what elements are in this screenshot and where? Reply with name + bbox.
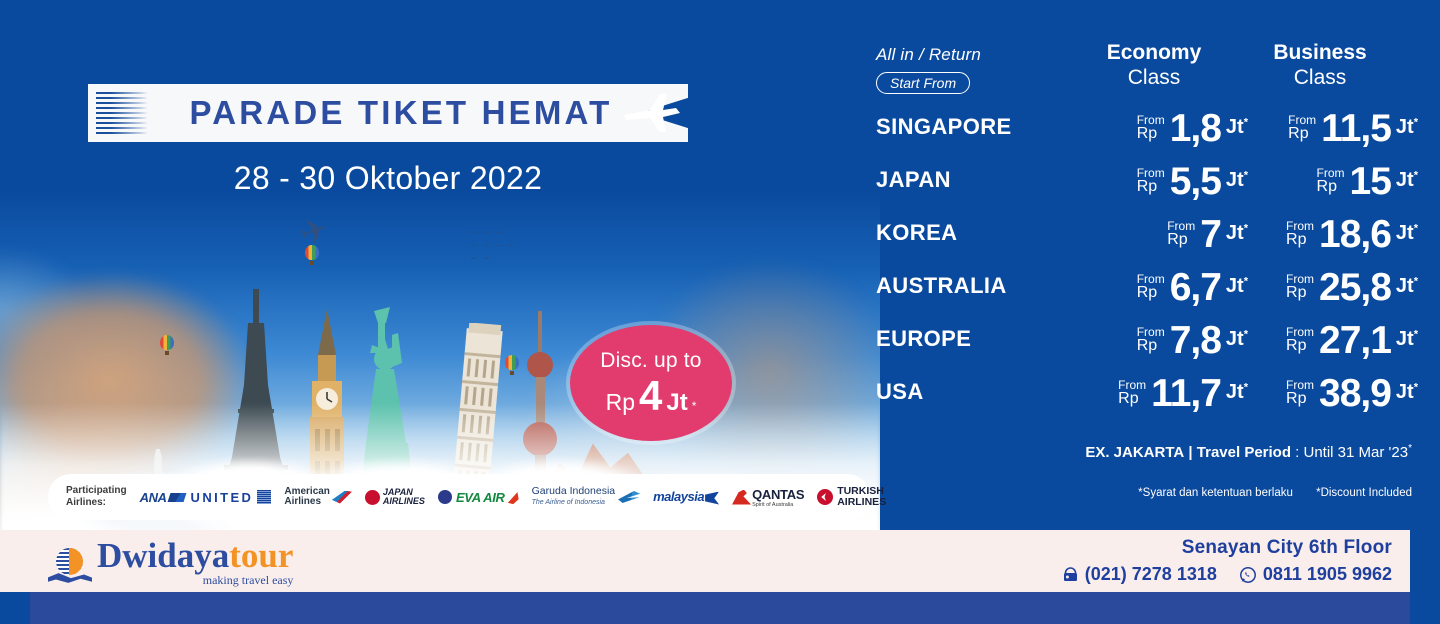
office-address: Senayan City 6th Floor	[1062, 537, 1392, 559]
fare-row-korea: KOREA FromRp 7 Jt* FromRp 18,6 Jt*	[872, 208, 1412, 261]
all-in-return-label: All in / Return	[876, 45, 981, 65]
business-price: FromRp 27,1 Jt*	[1228, 316, 1418, 366]
economy-price: FromRp 7 Jt*	[1058, 210, 1248, 260]
business-price: FromRp 25,8 Jt*	[1228, 263, 1418, 313]
participating-airlines-strip: ParticipatingAirlines: ANA UNITED Americ…	[48, 474, 870, 520]
logo-wordmark: Dwidayatour making travel easy	[97, 538, 293, 586]
discount-badge: Disc. up to Rp 4 Jt *	[570, 325, 732, 441]
airline-logo-qantas: QANTASSpirit of Australia	[732, 487, 804, 508]
logo-tagline: making travel easy	[97, 574, 293, 586]
discount-currency: Rp	[606, 389, 635, 416]
fare-row-japan: JAPAN FromRp 5,5 Jt* FromRp 15 Jt*	[872, 155, 1412, 208]
phone-number: (021) 7278 1318	[1085, 564, 1217, 585]
terms-text: *Syarat dan ketentuan berlaku	[1138, 487, 1293, 499]
promo-dates: 28 - 30 Oktober 2022	[88, 160, 688, 197]
economy-price: FromRp 7,8 Jt*	[1058, 316, 1248, 366]
contact-info: Senayan City 6th Floor (021) 7278 1318	[1062, 537, 1392, 585]
start-from-pill: Start From	[876, 72, 970, 94]
phone-contact[interactable]: (021) 7278 1318	[1062, 564, 1217, 585]
discount-asterisk: *	[692, 399, 697, 413]
dwidaya-logo[interactable]: Dwidayatour making travel easy	[48, 538, 293, 586]
airline-logo-malaysia-airlines: malaysia	[653, 489, 719, 504]
travel-period-note: EX. JAKARTA | Travel Period : Until 31 M…	[872, 443, 1412, 461]
destination-name: KOREA	[876, 220, 957, 246]
destination-name: JAPAN	[876, 167, 951, 193]
fare-row-singapore: SINGAPORE FromRp 1,8 Jt* FromRp 11,5 Jt*	[872, 102, 1412, 155]
airplane-icon	[620, 88, 682, 138]
title-ribbon: PARADE TIKET HEMAT	[88, 84, 688, 142]
destination-name: EUROPE	[876, 326, 971, 352]
fare-row-usa: USA FromRp 11,7 Jt* FromRp 38,9 Jt*	[872, 367, 1412, 420]
fare-row-europe: EUROPE FromRp 7,8 Jt* FromRp 27,1 Jt*	[872, 314, 1412, 367]
discount-included-text: *Discount Included	[1316, 487, 1412, 499]
destination-name: USA	[876, 379, 924, 405]
speed-lines-decoration	[96, 92, 148, 134]
hot-air-balloon-icon	[505, 355, 519, 375]
airline-logo-american-airlines: AmericanAirlines	[284, 487, 352, 507]
economy-price: FromRp 6,7 Jt*	[1058, 263, 1248, 313]
airline-logo-ana: ANA UNITED	[140, 490, 272, 505]
participating-airlines-label: ParticipatingAirlines:	[66, 485, 127, 509]
telephone-icon	[1062, 566, 1079, 583]
column-header-economy: Economy Class	[1064, 40, 1244, 90]
discount-amount: 4	[639, 376, 662, 416]
economy-price: FromRp 5,5 Jt*	[1058, 157, 1248, 207]
economy-price: FromRp 1,8 Jt*	[1058, 104, 1248, 154]
terms-note: *Syarat dan ketentuan berlaku *Discount …	[872, 487, 1412, 499]
discount-label: Disc. up to	[600, 349, 701, 373]
page-title: PARADE TIKET HEMAT	[158, 84, 644, 142]
economy-price: FromRp 11,7 Jt*	[1058, 369, 1248, 419]
destination-name: SINGAPORE	[876, 114, 1012, 140]
airline-logo-eva-air: EVA AIR	[438, 490, 519, 505]
fare-table: All in / Return Start From Economy Class…	[872, 40, 1412, 420]
bottom-accent-bar	[30, 592, 1410, 624]
whatsapp-contact[interactable]: 0811 1905 9962	[1239, 564, 1392, 585]
business-price: FromRp 18,6 Jt*	[1228, 210, 1418, 260]
business-price: FromRp 38,9 Jt*	[1228, 369, 1418, 419]
fare-table-header: All in / Return Start From Economy Class…	[872, 40, 1412, 102]
column-header-business: Business Class	[1230, 40, 1410, 90]
phone-numbers: (021) 7278 1318 0811 1905 9962	[1062, 564, 1392, 585]
destination-name: AUSTRALIA	[876, 273, 1007, 299]
fare-row-australia: AUSTRALIA FromRp 6,7 Jt* FromRp 25,8 Jt*	[872, 261, 1412, 314]
discount-unit: Jt	[666, 389, 687, 417]
hot-air-balloon-icon	[305, 245, 319, 265]
airline-logo-japan-airlines: JAPANAIRLINES	[365, 488, 425, 507]
whatsapp-icon	[1239, 566, 1257, 584]
business-price: FromRp 11,5 Jt*	[1228, 104, 1418, 154]
hot-air-balloon-icon	[160, 335, 174, 355]
logo-mark-icon	[48, 546, 92, 586]
footer-bar: Dwidayatour making travel easy Senayan C…	[0, 530, 1410, 592]
discount-amount-group: Rp 4 Jt *	[606, 376, 697, 417]
business-price: FromRp 15 Jt*	[1228, 157, 1418, 207]
airline-logo-garuda-indonesia: Garuda IndonesiaThe Airline of Indonesia	[532, 486, 640, 508]
whatsapp-number: 0811 1905 9962	[1263, 564, 1392, 585]
promo-banner: ✈ ∼∼∼∼∼∼∼∼∼	[0, 0, 1440, 624]
